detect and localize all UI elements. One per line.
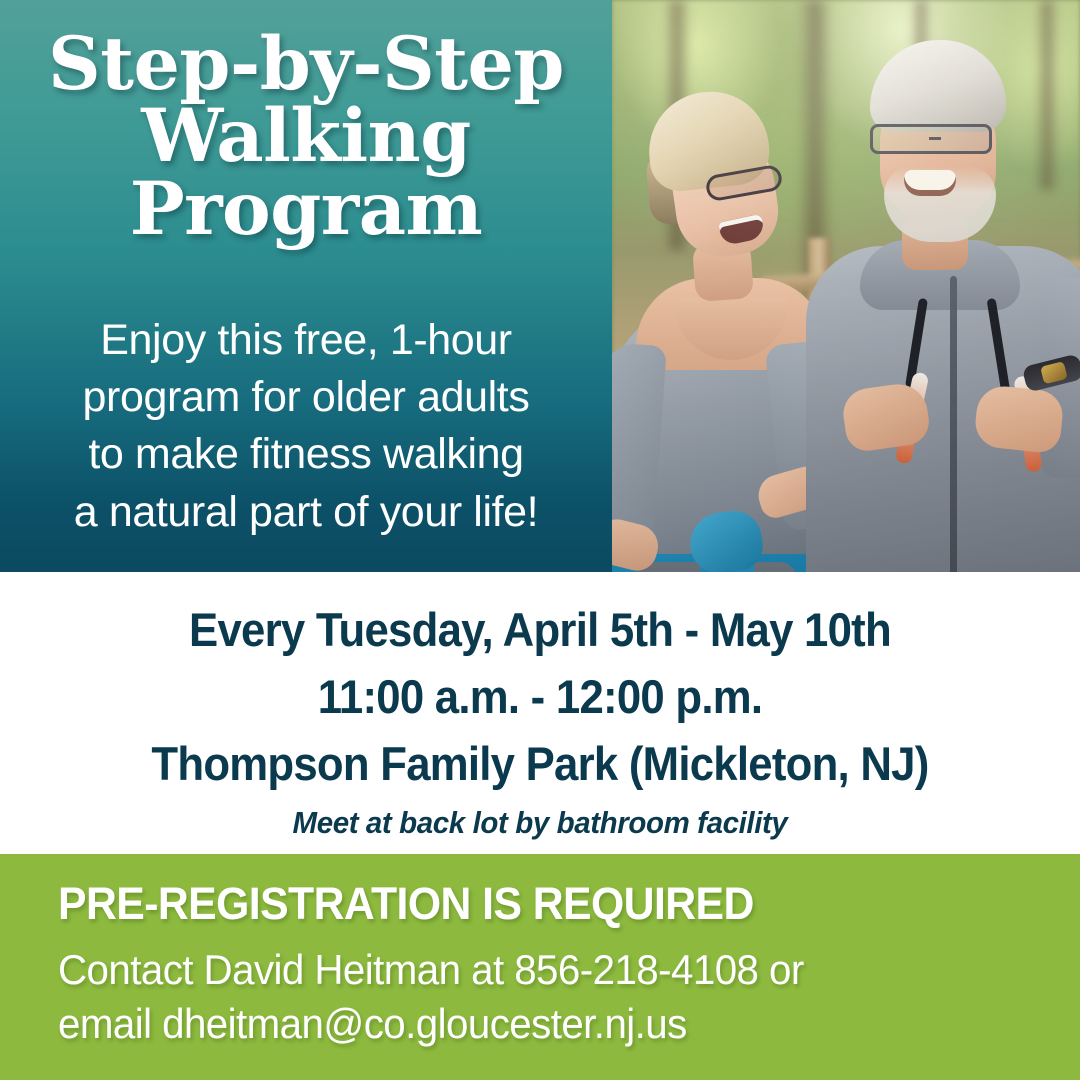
hero-photo: [612, 0, 1080, 572]
page-title: Step-by-Step Walking Program: [0, 28, 612, 245]
registration-footer: PRE-REGISTRATION IS REQUIRED Contact Dav…: [0, 854, 1080, 1080]
event-time: 11:00 a.m. - 12:00 p.m.: [38, 653, 1042, 720]
hoodie-zipper: [950, 276, 957, 572]
meeting-note: Meet at back lot by bathroom facility: [27, 787, 1053, 841]
person-man: [808, 40, 1080, 572]
flyer-canvas: Step-by-Step Walking Program Enjoy this …: [0, 0, 1080, 1080]
registration-headline: PRE-REGISTRATION IS REQUIRED: [58, 880, 809, 927]
event-date: Every Tuesday, April 5th - May 10th: [38, 572, 1042, 653]
description-line-2: program for older adults: [28, 369, 584, 426]
man-smile: [904, 170, 956, 196]
title-line-3: Program: [18, 173, 594, 245]
event-details-band: Every Tuesday, April 5th - May 10th 11:0…: [0, 572, 1080, 854]
hero-section: Step-by-Step Walking Program Enjoy this …: [0, 0, 1080, 572]
man-hand-right: [973, 384, 1065, 455]
description-line-1: Enjoy this free, 1-hour: [28, 312, 584, 369]
description-line-3: to make fitness walking: [28, 426, 584, 483]
eyeglasses-icon: [870, 124, 992, 154]
teal-gradient-panel: Step-by-Step Walking Program Enjoy this …: [0, 0, 612, 572]
title-line-1: Step-by-Step: [18, 28, 594, 100]
footer-text-block: PRE-REGISTRATION IS REQUIRED Contact Dav…: [58, 880, 848, 1048]
man-hair: [870, 40, 1006, 132]
program-description: Enjoy this free, 1-hour program for olde…: [0, 312, 612, 541]
title-line-2: Walking: [18, 100, 594, 172]
contact-line-email[interactable]: email dheitman@co.gloucester.nj.us: [58, 995, 816, 1049]
event-location: Thompson Family Park (Mickleton, NJ): [38, 720, 1042, 787]
description-line-4: a natural part of your life!: [28, 484, 584, 541]
contact-line-phone[interactable]: Contact David Heitman at 856-218-4108 or: [58, 927, 816, 995]
